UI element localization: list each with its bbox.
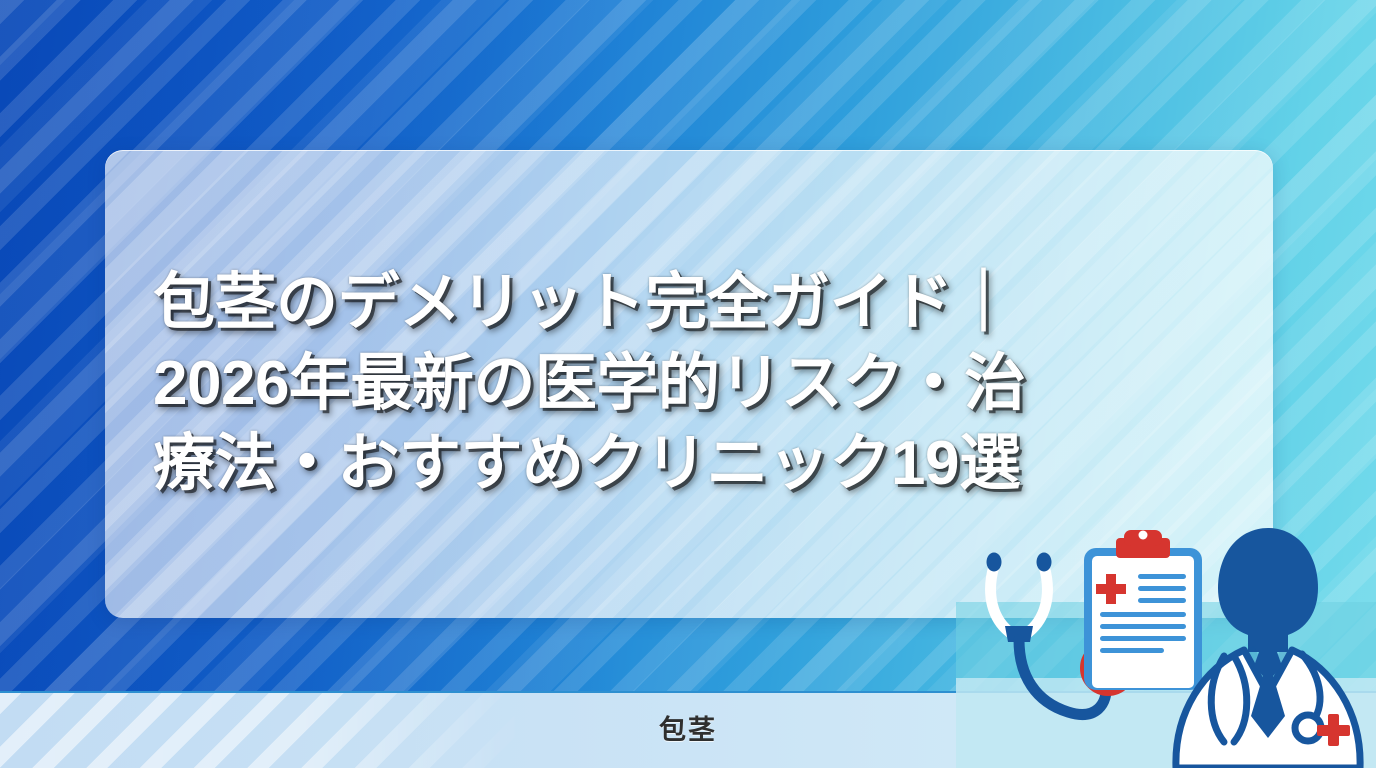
thumbnail-canvas: 包茎のデメリット完全ガイド｜ 2026年最新の医学的リスク・治 療法・おすすめク… [0,0,1376,768]
title-line-2: 2026年最新の医学的リスク・治 [153,344,1241,425]
footer-category-label: 包茎 [0,693,1376,768]
title-line-3: 療法・おすすめクリニック19選 [153,424,1241,505]
title-card: 包茎のデメリット完全ガイド｜ 2026年最新の医学的リスク・治 療法・おすすめク… [105,150,1273,618]
title-line-1: 包茎のデメリット完全ガイド｜ [153,263,1241,344]
page-title: 包茎のデメリット完全ガイド｜ 2026年最新の医学的リスク・治 療法・おすすめク… [105,263,1273,505]
footer-band: 包茎 [0,691,1376,768]
